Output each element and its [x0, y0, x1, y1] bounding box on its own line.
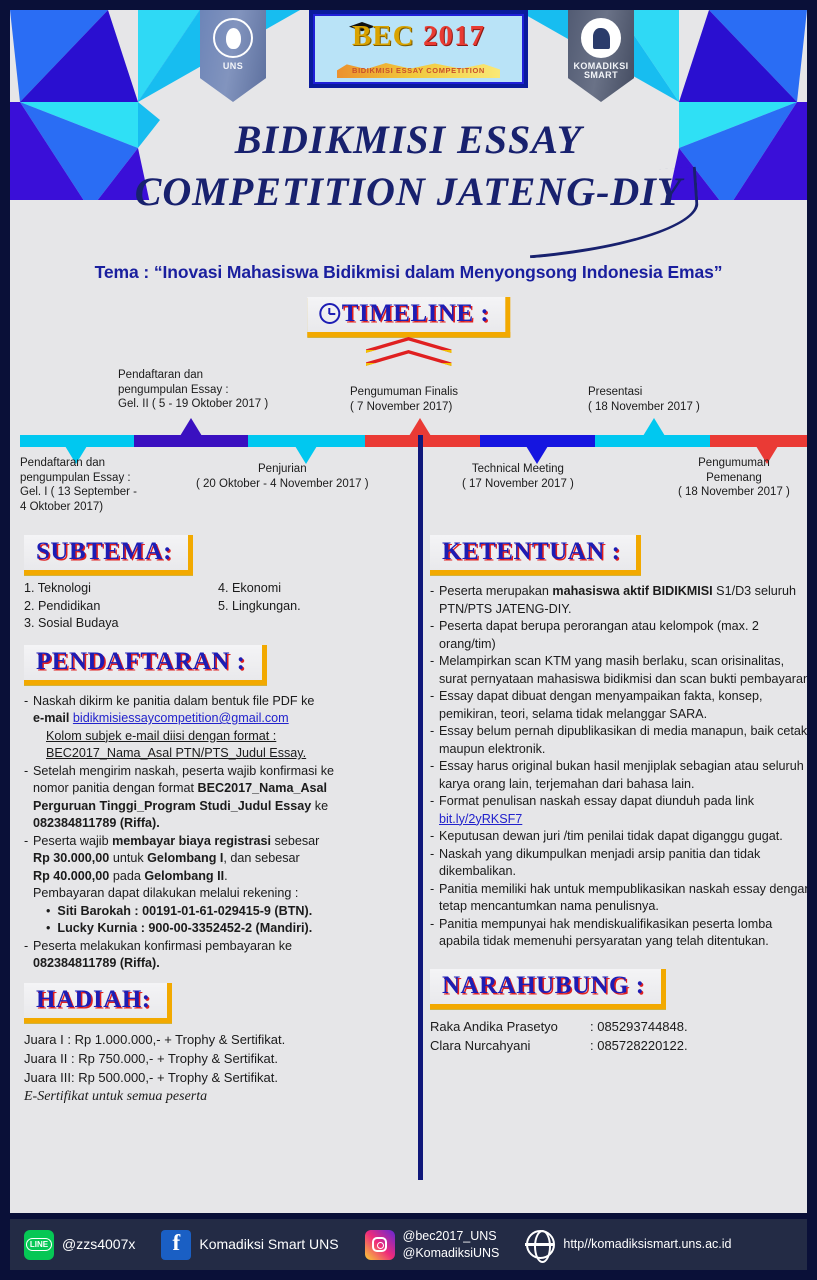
timeline-segment-7 — [710, 435, 807, 447]
timeline-segment-1 — [20, 435, 134, 447]
list-item-pre: Essay belum pernah dipublikasikan di med… — [439, 724, 807, 756]
list-item: -Peserta dapat berupa perorangan atau ke… — [430, 618, 807, 653]
subtema-heading-label: SUBTEMA: — [36, 538, 172, 565]
ketentuan-heading-label: KETENTUAN : — [442, 538, 620, 565]
confirm-phone: 082384811789 (Riffa). — [24, 815, 412, 833]
list-item: - Peserta wajib membayar biaya registras… — [24, 833, 412, 851]
dash-bullet: - — [430, 723, 439, 758]
line-icon-label: LINE — [26, 1238, 52, 1251]
list-item-pre: Melampirkan scan KTM yang masih berlaku,… — [439, 654, 807, 686]
pendaftaran-heading-label: PENDAFTARAN : — [36, 648, 246, 675]
narahubung-body: Raka Andika Prasetyo: 085293744848. Clar… — [430, 1017, 807, 1055]
bank-account-2-value: Lucky Kurnia : 900-00-3352452-2 (Mandiri… — [57, 921, 312, 935]
narahubung-block: NARAHUBUNG : Raka Andika Prasetyo: 08529… — [430, 969, 807, 1055]
fee-wave1-mid: untuk — [109, 851, 147, 865]
format-download-link[interactable]: bit.ly/2yRKSF7 — [439, 812, 522, 826]
contact-row: Clara Nurcahyani: 085728220122. — [430, 1036, 807, 1055]
fee-wave2-post: . — [224, 869, 228, 883]
footer-item-line[interactable]: LINE @zzs4007x — [24, 1230, 135, 1260]
ketentuan-heading: KETENTUAN : — [430, 535, 641, 575]
timeline-heading: TIMELINE : — [307, 297, 510, 337]
globe-icon — [525, 1230, 555, 1260]
hadiah-body: Juara I : Rp 1.000.000,- + Trophy & Sert… — [24, 1030, 412, 1106]
ketentuan-block: KETENTUAN : -Peserta merupakan mahasiswa… — [430, 535, 807, 951]
hadiah-block: HADIAH: Juara I : Rp 1.000.000,- + Troph… — [24, 983, 412, 1106]
line-icon: LINE — [24, 1230, 54, 1260]
fee-wave1-amount: Rp 30.000,00 — [33, 851, 109, 865]
list-item: 2. Pendidikan — [24, 598, 218, 616]
footer-facebook-handle: Komadiksi Smart UNS — [199, 1236, 338, 1253]
dash-bullet: - — [430, 793, 439, 828]
list-item: -Naskah yang dikumpulkan menjadi arsip p… — [430, 846, 807, 881]
list-item: -Panitia memiliki hak untuk mempublikasi… — [430, 881, 807, 916]
fee-pre: Peserta wajib — [33, 834, 112, 848]
subtema-list: 1. Teknologi 2. Pendidikan 3. Sosial Bud… — [24, 580, 412, 633]
timeline-badge: TIMELINE : — [307, 297, 510, 337]
poster-root: UNS KOMADIKSI SMART BEC 2017 BIDIKMISI E… — [0, 0, 817, 1280]
timeline-label: Pengumuman Pemenang ( 18 November 2017 ) — [678, 456, 790, 500]
pendaftaran-block: PENDAFTARAN : - Naskah dikirm ke panitia… — [24, 645, 412, 973]
bank-account-1: • Siti Barokah : 00191-01-61-029415-9 (B… — [24, 903, 412, 921]
contact-name: Clara Nurcahyani — [430, 1036, 590, 1055]
instagram-icon — [365, 1230, 395, 1260]
list-item: 1. Teknologi — [24, 580, 218, 598]
subtema-col2: 4. Ekonomi 5. Lingkungan. — [218, 580, 412, 633]
uns-emblem-icon — [213, 18, 253, 58]
list-item: - Naskah dikirm ke panitia dalam bentuk … — [24, 693, 412, 711]
list-item-text: Peserta merupakan mahasiswa aktif BIDIKM… — [439, 583, 807, 618]
timeline-heading-label: TIMELINE : — [342, 300, 489, 327]
dash-bullet: - — [430, 916, 439, 951]
column-divider — [418, 435, 423, 1180]
dash-bullet: - — [430, 881, 439, 916]
list-item-text: Panitia mempunyai hak mendiskualifikasik… — [439, 916, 807, 951]
chevron-up-icon — [366, 337, 452, 371]
dash-bullet: - — [24, 938, 33, 956]
fee-wave2-mid: pada — [109, 869, 144, 883]
list-item: Juara I : Rp 1.000.000,- + Trophy & Sert… — [24, 1030, 412, 1049]
fee-wave2-label: Gelombang II — [144, 869, 224, 883]
timeline-marker — [409, 418, 431, 436]
bec-banner-year: 2017 — [423, 20, 485, 52]
dash-bullet: - — [430, 828, 439, 846]
list-item-text: Peserta melakukan konfirmasi pembayaran … — [33, 938, 412, 956]
list-item-pre: Peserta merupakan — [439, 584, 552, 598]
list-item-text: Format penulisan naskah essay dapat diun… — [439, 793, 807, 828]
timeline-marker — [643, 418, 665, 436]
confirm-format-post: ke — [311, 799, 328, 813]
theme-line: Tema : “Inovasi Mahasiswa Bidikmisi dala… — [10, 262, 807, 283]
bank-account-2: • Lucky Kurnia : 900-00-3352452-2 (Mandi… — [24, 920, 412, 938]
list-item: Juara III: Rp 500.000,- + Trophy & Serti… — [24, 1068, 412, 1087]
list-item: - Peserta melakukan konfirmasi pembayara… — [24, 938, 412, 956]
list-item: 5. Lingkungan. — [218, 598, 412, 616]
list-item-pre: Essay dapat dibuat dengan menyampaikan f… — [439, 689, 762, 721]
list-item-pre: Keputusan dewan juri /tim penilai tidak … — [439, 829, 783, 843]
dash-bullet: - — [24, 693, 33, 711]
list-item-text: Essay harus original bukan hasil menjipl… — [439, 758, 807, 793]
payment-confirm-phone: 082384811789 (Riffa). — [24, 955, 412, 973]
payment-intro: Pembayaran dapat dilakukan melalui reken… — [24, 885, 412, 903]
list-item-text: Setelah mengirim naskah, peserta wajib k… — [33, 763, 412, 781]
list-item: -Melampirkan scan KTM yang masih berlaku… — [430, 653, 807, 688]
list-item: 4. Ekonomi — [218, 580, 412, 598]
list-item-text: Naskah dikirm ke panitia dalam bentuk fi… — [33, 693, 412, 711]
facebook-icon: f — [161, 1230, 191, 1260]
pendaftaran-body: - Naskah dikirm ke panitia dalam bentuk … — [24, 693, 412, 973]
footer-item-instagram[interactable]: @bec2017_UNS @KomadiksiUNS — [365, 1228, 500, 1262]
dash-bullet: - — [24, 833, 33, 851]
subtema-heading: SUBTEMA: — [24, 535, 193, 575]
timeline-segment-3 — [248, 435, 365, 447]
bec-banner: BEC 2017 BIDIKMISI ESSAY COMPETITION — [309, 10, 528, 88]
timeline-marker — [180, 418, 202, 436]
narahubung-heading: NARAHUBUNG : — [430, 969, 666, 1009]
footer-line-handle: @zzs4007x — [62, 1236, 135, 1253]
right-column: KETENTUAN : -Peserta merupakan mahasiswa… — [430, 535, 807, 1062]
chevron-stroke-2 — [366, 350, 452, 366]
confirm-format-line1: nomor panitia dengan format BEC2017_Nama… — [24, 780, 412, 798]
list-item-text: Essay dapat dibuat dengan menyampaikan f… — [439, 688, 807, 723]
logo-komadiksi-caption-l2: SMART — [584, 70, 618, 80]
list-item: -Peserta merupakan mahasiswa aktif BIDIK… — [430, 583, 807, 618]
fee-wave1: Rp 30.000,00 untuk Gelombang I, dan sebe… — [24, 850, 412, 868]
hadiah-note: E-Sertifikat untuk semua peserta — [24, 1087, 412, 1106]
page-title-line1: BIDIKMISI ESSAY — [10, 114, 807, 166]
pendaftaran-heading: PENDAFTARAN : — [24, 645, 267, 685]
logo-uns-caption: UNS — [223, 62, 243, 71]
bullet-dot: • — [46, 904, 50, 918]
footer-item-facebook[interactable]: f Komadiksi Smart UNS — [161, 1230, 338, 1260]
dash-bullet: - — [430, 846, 439, 881]
list-item-pre: Essay harus original bukan hasil menjipl… — [439, 759, 804, 791]
hadiah-heading-label: HADIAH: — [36, 986, 151, 1013]
hadiah-heading: HADIAH: — [24, 983, 172, 1023]
fee-wave2-amount: Rp 40.000,00 — [33, 869, 109, 883]
confirm-format-bold2: Perguruan Tinggi_Program Studi_Judul Ess… — [33, 799, 311, 813]
list-item-text: Naskah yang dikumpulkan menjadi arsip pa… — [439, 846, 807, 881]
list-item-pre: Panitia mempunyai hak mendiskualifikasik… — [439, 917, 772, 949]
list-item: - Setelah mengirim naskah, peserta wajib… — [24, 763, 412, 781]
footer-website-url: http//komadiksismart.uns.ac.id — [563, 1236, 731, 1253]
komadiksi-emblem-icon — [581, 18, 621, 58]
left-column: SUBTEMA: 1. Teknologi 2. Pendidikan 3. S… — [24, 535, 412, 1113]
bec-banner-caption: BIDIKMISI ESSAY COMPETITION — [315, 66, 522, 75]
bec-banner-title: BEC 2017 — [315, 21, 522, 51]
email-label: e-mail — [33, 711, 69, 725]
timeline-segment-5 — [480, 435, 595, 447]
list-item-pre: Peserta dapat berupa perorangan atau kel… — [439, 619, 759, 651]
footer-instagram-handle-1: @bec2017_UNS — [403, 1228, 500, 1245]
footer-instagram-handle-2: @KomadiksiUNS — [403, 1245, 500, 1262]
dash-bullet: - — [430, 758, 439, 793]
timeline-label: Pengumuman Finalis ( 7 November 2017) — [350, 385, 458, 414]
fee-wave2: Rp 40.000,00 pada Gelombang II. — [24, 868, 412, 886]
list-item: Juara II : Rp 750.000,- + Trophy & Serti… — [24, 1049, 412, 1068]
confirm-phone-value: 082384811789 (Riffa). — [33, 816, 160, 830]
list-item: -Format penulisan naskah essay dapat diu… — [430, 793, 807, 828]
fee-wave1-label: Gelombang I — [147, 851, 223, 865]
bec-banner-inner: BEC 2017 BIDIKMISI ESSAY COMPETITION — [313, 14, 524, 84]
timeline-label: Presentasi ( 18 November 2017 ) — [588, 385, 700, 414]
timeline-label: Technical Meeting ( 17 November 2017 ) — [462, 462, 574, 491]
dash-bullet: - — [430, 653, 439, 688]
clock-icon — [319, 303, 340, 324]
facebook-icon-label: f — [173, 1230, 181, 1256]
timeline-segment-6 — [595, 435, 710, 447]
bec-banner-word: BEC — [352, 20, 423, 52]
subject-format-example: BEC2017_Nama_Asal PTN/PTS_Judul Essay. — [24, 745, 412, 763]
subtema-col1: 1. Teknologi 2. Pendidikan 3. Sosial Bud… — [24, 580, 218, 633]
poster-body-panel: UNS KOMADIKSI SMART BEC 2017 BIDIKMISI E… — [10, 10, 807, 1213]
list-item-text: Melampirkan scan KTM yang masih berlaku,… — [439, 653, 807, 688]
fee-post: sebesar — [271, 834, 319, 848]
list-item: -Essay dapat dibuat dengan menyampaikan … — [430, 688, 807, 723]
page-title: BIDIKMISI ESSAY COMPETITION JATENG-DIY — [10, 114, 807, 218]
contact-name: Raka Andika Prasetyo — [430, 1017, 590, 1036]
list-item-text: Essay belum pernah dipublikasikan di med… — [439, 723, 807, 758]
list-item: -Essay belum pernah dipublikasikan di me… — [430, 723, 807, 758]
list-item-pre: Naskah yang dikumpulkan menjadi arsip pa… — [439, 847, 760, 879]
footer-item-website[interactable]: http//komadiksismart.uns.ac.id — [525, 1230, 731, 1260]
list-item-emphasis: mahasiswa aktif BIDIKMISI — [552, 584, 712, 598]
confirm-format-pre: nomor panitia dengan format — [33, 781, 198, 795]
bank-account-1-value: Siti Barokah : 00191-01-61-029415-9 (BTN… — [57, 904, 312, 918]
payment-confirm-phone-value: 082384811789 (Riffa). — [33, 956, 160, 970]
narahubung-heading-label: NARAHUBUNG : — [442, 972, 645, 999]
logo-komadiksi-caption: KOMADIKSI SMART — [573, 62, 628, 80]
list-item-text: Keputusan dewan juri /tim penilai tidak … — [439, 828, 807, 846]
timeline-label: Penjurian ( 20 Oktober - 4 November 2017… — [196, 462, 369, 491]
globe-glyph — [526, 1230, 555, 1259]
bottom-frame-bar — [0, 1270, 817, 1280]
dash-bullet: - — [430, 583, 439, 618]
dash-bullet: - — [430, 618, 439, 653]
footer-instagram-handles: @bec2017_UNS @KomadiksiUNS — [403, 1228, 500, 1262]
bullet-dot: • — [46, 921, 50, 935]
subject-format-line: Kolom subjek e-mail diisi dengan format … — [24, 728, 412, 746]
dash-bullet: - — [430, 688, 439, 723]
contact-row: Raka Andika Prasetyo: 085293744848. — [430, 1017, 807, 1036]
list-item-pre: Panitia memiliki hak untuk mempublikasik… — [439, 882, 807, 914]
list-item-text: Peserta wajib membayar biaya registrasi … — [33, 833, 412, 851]
fee-bold: membayar biaya registrasi — [112, 834, 271, 848]
email-line: e-mail bidikmisiessaycompetition@gmail.c… — [24, 710, 412, 728]
email-link[interactable]: bidikmisiessaycompetition@gmail.com — [73, 711, 289, 725]
page-title-line2: COMPETITION JATENG-DIY — [135, 166, 683, 218]
list-item: -Panitia mempunyai hak mendiskualifikasi… — [430, 916, 807, 951]
confirm-format-bold: BEC2017_Nama_Asal — [198, 781, 328, 795]
instagram-glyph — [372, 1237, 387, 1252]
list-item: 3. Sosial Budaya — [24, 615, 218, 633]
confirm-format-line2: Perguruan Tinggi_Program Studi_Judul Ess… — [24, 798, 412, 816]
list-item: -Keputusan dewan juri /tim penilai tidak… — [430, 828, 807, 846]
list-item-text: Panitia memiliki hak untuk mempublikasik… — [439, 881, 807, 916]
dash-bullet: - — [24, 763, 33, 781]
timeline-label: Pendaftaran dan pengumpulan Essay : Gel.… — [20, 456, 137, 514]
ketentuan-list: -Peserta merupakan mahasiswa aktif BIDIK… — [430, 583, 807, 951]
list-item-text: Peserta dapat berupa perorangan atau kel… — [439, 618, 807, 653]
footer-bar: LINE @zzs4007x f Komadiksi Smart UNS @be… — [10, 1219, 807, 1270]
timeline-label: Pendaftaran dan pengumpulan Essay : Gel.… — [118, 368, 268, 412]
timeline-segment-2 — [134, 435, 248, 447]
subtema-block: SUBTEMA: 1. Teknologi 2. Pendidikan 3. S… — [24, 535, 412, 633]
list-item-pre: Format penulisan naskah essay dapat diun… — [439, 794, 754, 808]
contact-phone: : 085293744848. — [590, 1019, 688, 1034]
fee-wave1-post: , dan sebesar — [223, 851, 299, 865]
contact-phone: : 085728220122. — [590, 1038, 688, 1053]
timeline-axis — [20, 435, 807, 447]
list-item: -Essay harus original bukan hasil menjip… — [430, 758, 807, 793]
